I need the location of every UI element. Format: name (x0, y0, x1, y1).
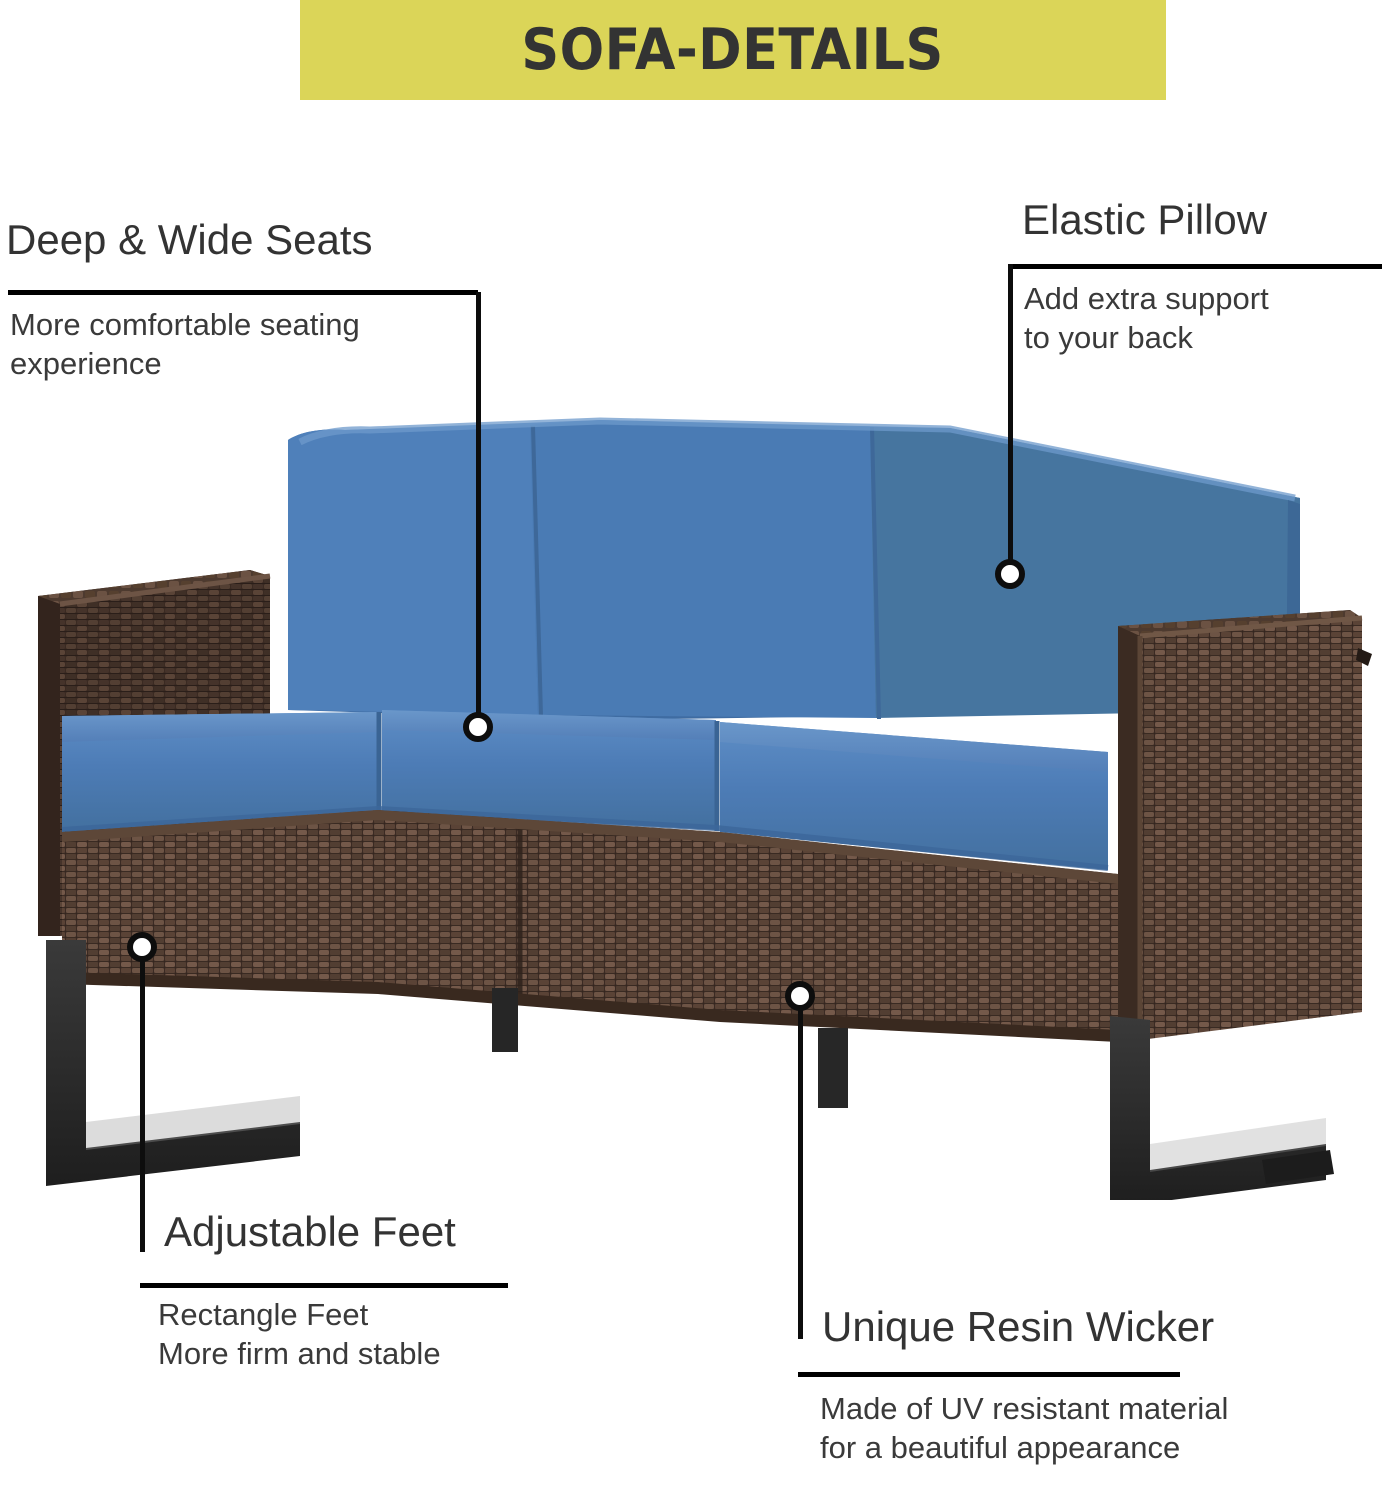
callout-body-adjustable-feet: Rectangle Feet More firm and stable (158, 1296, 441, 1374)
callout-connector-unique-resin-wicker (798, 1009, 803, 1339)
callout-title-elastic-pillow: Elastic Pillow (1022, 198, 1267, 242)
callout-body-line: More firm and stable (158, 1335, 441, 1374)
callout-title-unique-resin-wicker: Unique Resin Wicker (822, 1305, 1214, 1349)
callout-connector-deep-wide-seats (476, 292, 481, 732)
callout-body-line: Rectangle Feet (158, 1296, 441, 1335)
callout-rule-deep-wide-seats (8, 290, 478, 295)
callout-rule-unique-resin-wicker (798, 1372, 1180, 1377)
back-pillow-marker (995, 559, 1025, 589)
product-detail-infographic: SOFA-DETAILS (0, 0, 1387, 1488)
callout-body-elastic-pillow: Add extra support to your back (1024, 280, 1269, 358)
callout-title-deep-wide-seats: Deep & Wide Seats (6, 218, 373, 262)
callout-body-deep-wide-seats: More comfortable seating experience (10, 306, 360, 384)
callout-body-line: for a beautiful appearance (820, 1429, 1228, 1468)
callout-body-line: More comfortable seating (10, 306, 360, 345)
wicker-marker (785, 981, 815, 1011)
callout-body-line: Add extra support (1024, 280, 1269, 319)
mid-leg (818, 1028, 848, 1108)
callout-body-unique-resin-wicker: Made of UV resistant material for a beau… (820, 1390, 1228, 1468)
callout-title-adjustable-feet: Adjustable Feet (164, 1210, 456, 1254)
foot-marker (127, 932, 157, 962)
callout-body-line: Made of UV resistant material (820, 1390, 1228, 1429)
seat-cushion-marker (463, 712, 493, 742)
callout-connector-adjustable-feet (140, 960, 145, 1252)
callout-rule-elastic-pillow (1008, 264, 1382, 269)
rear-left-leg (492, 988, 518, 1052)
callout-rule-adjustable-feet (140, 1283, 508, 1288)
sofa-illustration (0, 380, 1387, 1200)
callout-body-line: experience (10, 345, 360, 384)
page-title: SOFA-DETAILS (522, 17, 944, 83)
title-banner: SOFA-DETAILS (300, 0, 1166, 100)
callout-connector-elastic-pillow (1008, 264, 1013, 576)
right-armrest (1118, 610, 1372, 1042)
callout-body-line: to your back (1024, 319, 1269, 358)
